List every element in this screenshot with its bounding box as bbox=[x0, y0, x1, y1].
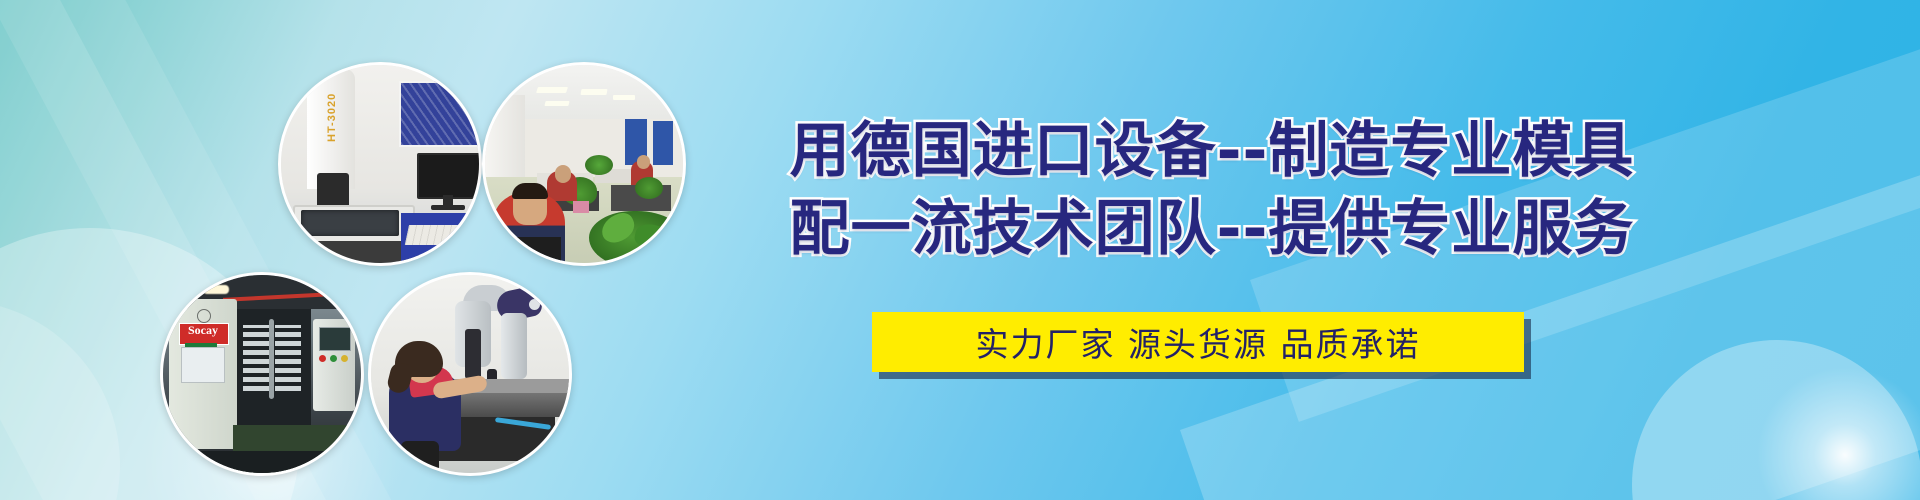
worker-head bbox=[637, 155, 650, 169]
brand-label: Socay bbox=[179, 323, 227, 337]
foreground-monitor bbox=[495, 237, 561, 265]
optical-head bbox=[317, 173, 349, 209]
photo-vision-measuring-machine: HT-3020 bbox=[278, 62, 482, 266]
cmm-probe bbox=[465, 329, 481, 379]
headline-block: 用德国进口设备--制造专业模具 配一流技术团队--提供专业服务 bbox=[772, 112, 1652, 268]
ceiling-light bbox=[536, 87, 568, 93]
office-plant bbox=[585, 155, 613, 175]
plant-pot bbox=[573, 201, 589, 213]
office-plant bbox=[635, 177, 663, 199]
operator-leg bbox=[401, 441, 439, 473]
worker-head bbox=[555, 165, 571, 183]
control-button-red bbox=[319, 355, 326, 362]
photo-office-workspace bbox=[482, 62, 686, 266]
wall-panel bbox=[399, 81, 482, 147]
machine-model-label: HT-3020 bbox=[326, 72, 338, 142]
worker-foreground-hair bbox=[512, 183, 548, 199]
machine-base bbox=[163, 451, 361, 475]
door-handle bbox=[269, 319, 274, 399]
ceiling-light bbox=[580, 89, 607, 95]
ceiling-light bbox=[613, 95, 635, 100]
photo-cmm-inspection bbox=[368, 272, 572, 476]
control-button-yellow bbox=[341, 355, 348, 362]
machine-base bbox=[287, 241, 419, 265]
workshop-light bbox=[203, 285, 229, 294]
door-window bbox=[243, 325, 269, 391]
keyboard bbox=[405, 225, 482, 245]
headline-line-1: 用德国进口设备--制造专业模具 bbox=[772, 112, 1652, 190]
promo-banner: HT-3020 bbox=[0, 0, 1920, 500]
window-blind bbox=[653, 121, 673, 165]
info-plate bbox=[181, 347, 225, 383]
headline-line-2: 配一流技术团队--提供专业服务 bbox=[772, 190, 1652, 268]
monitor-base bbox=[431, 205, 465, 210]
door-window bbox=[275, 325, 301, 391]
ceiling-light bbox=[544, 101, 569, 106]
control-screen bbox=[319, 327, 351, 351]
cmm-column bbox=[501, 313, 527, 379]
control-button-green bbox=[330, 355, 337, 362]
cmm-knob bbox=[529, 299, 540, 310]
photo-cnc-machining-center: Socay bbox=[160, 272, 364, 476]
stage-glass bbox=[301, 210, 399, 236]
subbanner-highlight: 实力厂家 源头货源 品质承诺 bbox=[872, 312, 1524, 372]
cabinet-dial bbox=[197, 309, 211, 323]
subbanner-text: 实力厂家 源头货源 品质承诺 bbox=[976, 318, 1421, 366]
subbanner-wrapper: 实力厂家 源头货源 品质承诺 bbox=[872, 312, 1524, 372]
monitor-screen bbox=[417, 153, 482, 199]
